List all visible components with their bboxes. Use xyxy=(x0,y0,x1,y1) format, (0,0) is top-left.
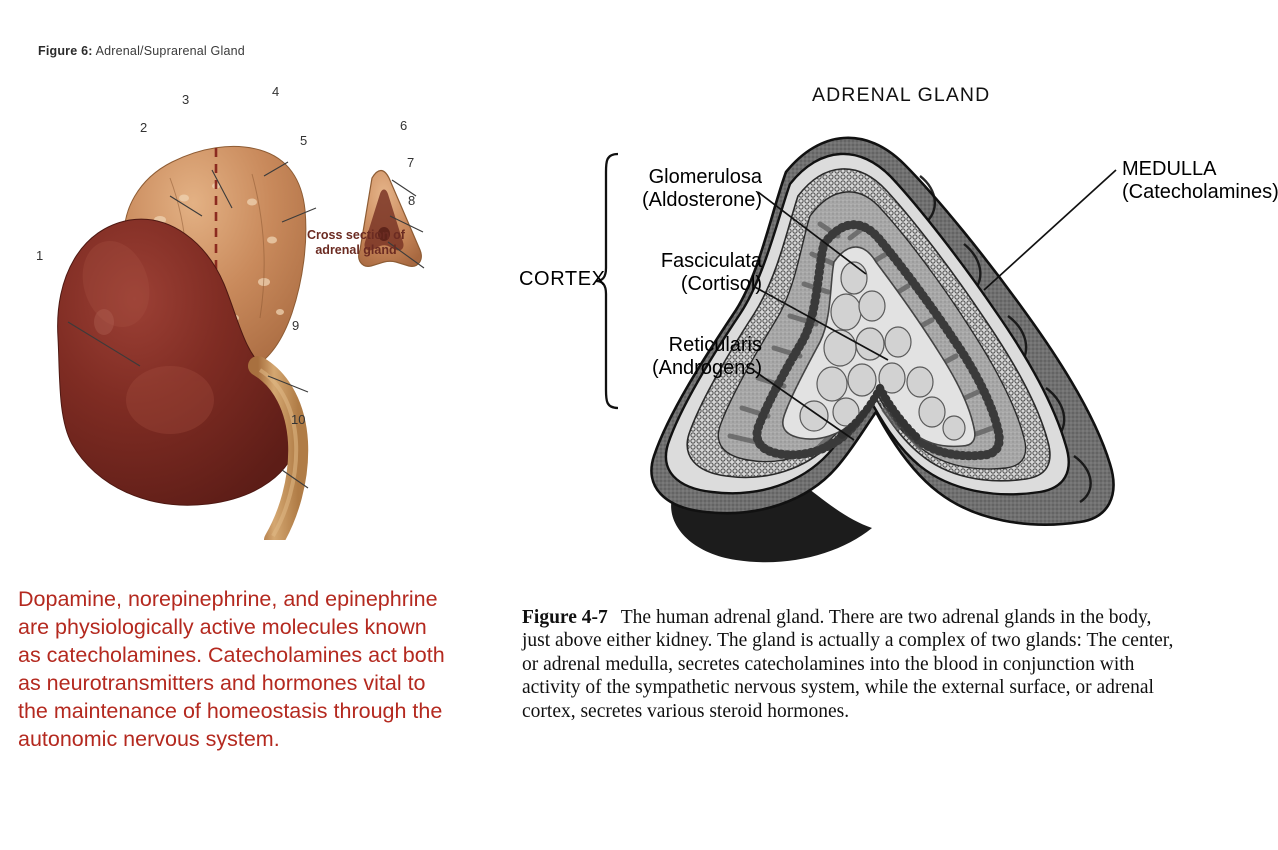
figure6-title: Figure 6: Adrenal/Suprarenal Gland xyxy=(38,44,245,58)
zone-label-glomerulosa: Glomerulosa (Aldosterone) xyxy=(612,166,762,212)
callout-number-10: 10 xyxy=(291,412,305,427)
callout-number-4: 4 xyxy=(272,84,279,99)
figure47-caption-number: Figure 4-7 xyxy=(522,607,608,628)
cross-section-caption-line2: adrenal gland xyxy=(315,243,396,257)
callout-number-6: 6 xyxy=(400,118,407,133)
medulla-label: MEDULLA (Catecholamines) xyxy=(1122,158,1278,204)
cross-section-caption-line1: Cross section of xyxy=(307,228,405,242)
glomerulosa-name: Glomerulosa xyxy=(649,166,762,188)
reticularis-name: Reticularis xyxy=(669,334,762,356)
attribution-clipped xyxy=(1000,838,1270,850)
medulla-hormone: (Catecholamines) xyxy=(1122,181,1278,203)
fasciculata-name: Fasciculata xyxy=(661,250,762,272)
figure47-caption-body: The human adrenal gland. There are two a… xyxy=(522,607,1173,722)
figure6-illustration xyxy=(20,70,450,540)
cortex-label: CORTEX xyxy=(519,268,606,291)
callout-number-3: 3 xyxy=(182,92,189,107)
callout-number-8: 8 xyxy=(408,193,415,208)
callout-number-9: 9 xyxy=(292,318,299,333)
callout-number-1: 1 xyxy=(36,248,43,263)
reticularis-hormone: (Androgens) xyxy=(612,357,762,380)
catecholamines-note: Dopamine, norepinephrine, and epinephrin… xyxy=(18,586,448,754)
zone-label-reticularis: Reticularis (Androgens) xyxy=(612,334,762,380)
kidney-adrenal-svg xyxy=(20,70,450,540)
cross-section-inset-caption: Cross section of adrenal gland xyxy=(296,228,416,258)
figure47-caption: Figure 4-7The human adrenal gland. There… xyxy=(522,606,1182,723)
zone-label-fasciculata: Fasciculata (Cortisol) xyxy=(612,250,762,296)
callout-number-5: 5 xyxy=(300,133,307,148)
figure6-title-label: Figure 6: xyxy=(38,44,93,58)
fasciculata-hormone: (Cortisol) xyxy=(612,273,762,296)
adrenal-gland-heading: ADRENAL GLAND xyxy=(812,84,990,107)
figure6-title-text: Adrenal/Suprarenal Gland xyxy=(93,44,245,58)
medulla-name: MEDULLA xyxy=(1122,158,1216,180)
callout-number-2: 2 xyxy=(140,120,147,135)
glomerulosa-hormone: (Aldosterone) xyxy=(612,189,762,212)
callout-number-7: 7 xyxy=(407,155,414,170)
